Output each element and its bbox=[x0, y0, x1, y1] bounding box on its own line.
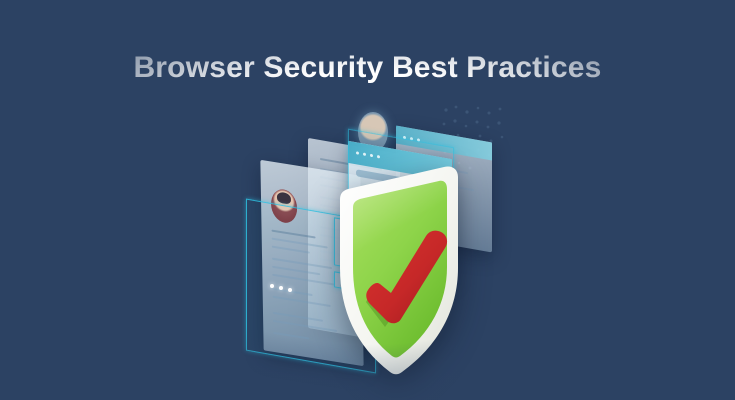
glow-dot-icon bbox=[270, 284, 274, 288]
browser-security-shield-illustration bbox=[238, 98, 518, 388]
page-title: Browser Security Best Practices bbox=[0, 50, 735, 86]
security-banner: Browser Security Best Practices bbox=[0, 0, 735, 400]
green-shield-with-red-check bbox=[326, 164, 476, 376]
glow-dot-icon bbox=[279, 286, 283, 290]
glow-dot-icon bbox=[288, 288, 292, 292]
